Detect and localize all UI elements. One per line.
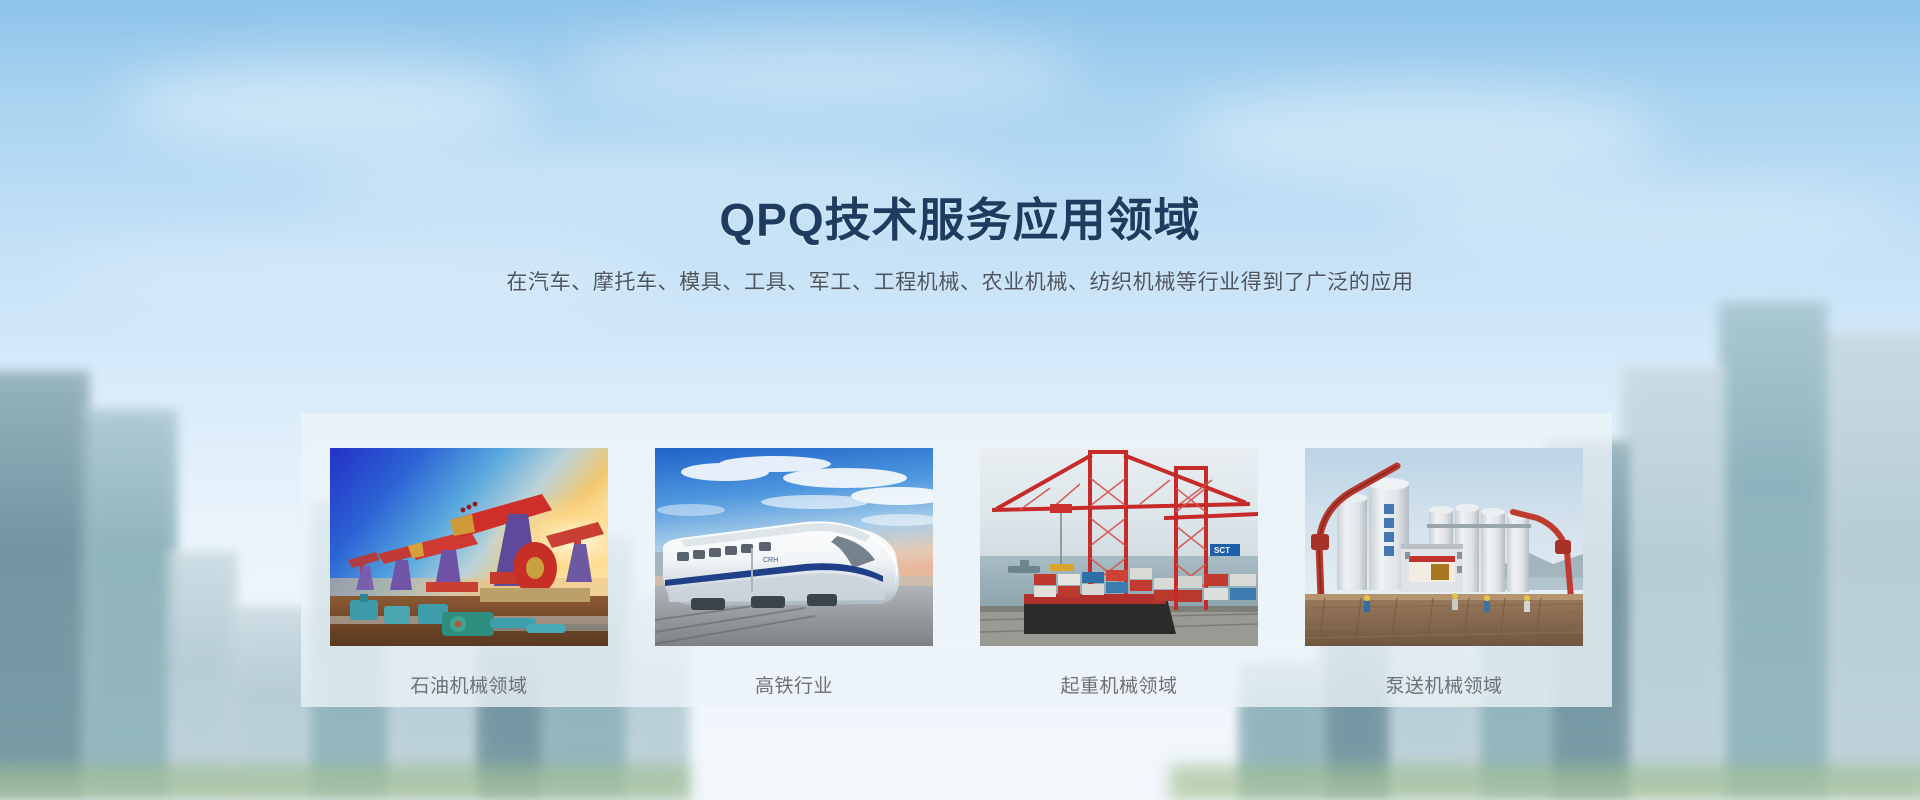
concrete-pump-plant-photo[interactable] [1305, 448, 1583, 646]
port-container-crane-photo[interactable]: SCT [980, 448, 1258, 646]
card-label: 高铁行业 [755, 671, 833, 698]
oil-pumpjacks-photo[interactable] [330, 448, 608, 646]
card-label: 石油机械领域 [410, 671, 527, 698]
card-lifting-machinery[interactable]: SCT 起重机械领域 [980, 448, 1258, 698]
page-title: QPQ技术服务应用领域 [0, 192, 1920, 250]
hero-text-block: QPQ技术服务应用领域 在汽车、摩托车、模具、工具、军工、工程机械、农业机械、纺… [0, 0, 1920, 296]
svg-text:CRH: CRH [763, 557, 778, 564]
svg-text:SCT: SCT [1214, 546, 1230, 555]
application-fields-panel: 石油机械领域 [301, 413, 1612, 707]
page-subtitle: 在汽车、摩托车、模具、工具、军工、工程机械、农业机械、纺织机械等行业得到了广泛的… [0, 266, 1920, 296]
high-speed-train-photo[interactable]: CRH [655, 448, 933, 646]
hero-banner: QPQ技术服务应用领域 在汽车、摩托车、模具、工具、军工、工程机械、农业机械、纺… [0, 0, 1920, 800]
card-pumping-machinery[interactable]: 泵送机械领域 [1305, 448, 1583, 698]
card-label: 泵送机械领域 [1385, 671, 1502, 698]
card-oil-machinery[interactable]: 石油机械领域 [330, 448, 608, 698]
card-label: 起重机械领域 [1060, 671, 1177, 698]
card-high-speed-rail[interactable]: CRH 高铁行业 [655, 448, 933, 698]
